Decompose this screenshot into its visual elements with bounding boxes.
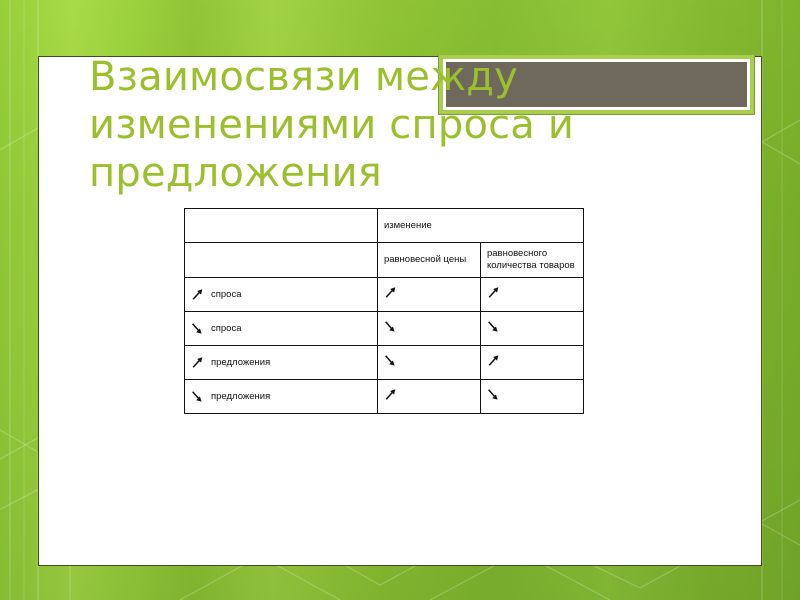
row-price-cell: [377, 346, 480, 380]
table-row: спроса: [185, 278, 584, 312]
table-row: предложения: [185, 346, 584, 380]
arrow-up-right-icon: [487, 286, 500, 299]
row-price-cell: [377, 278, 480, 312]
table-row: предложения: [185, 380, 584, 414]
arrow-down-right-icon: [191, 322, 204, 335]
subheader-corner-cell: [185, 243, 378, 278]
row-label-text: предложения: [211, 391, 270, 403]
table-row-header-top: изменение: [185, 209, 584, 243]
arrow-down-right-icon: [487, 388, 500, 401]
row-label-text: предложения: [211, 357, 270, 369]
row-label-text: спроса: [211, 323, 242, 335]
arrow-down-right-icon: [384, 354, 397, 367]
row-price-cell: [377, 312, 480, 346]
arrow-up-right-icon: [384, 388, 397, 401]
row-quantity-cell: [480, 346, 583, 380]
row-label-cell: спроса: [185, 278, 378, 312]
slide-content-page: picture-placeholder Взаимосвязи между из…: [38, 56, 762, 566]
page-title: Взаимосвязи между изменениями спроса и п…: [89, 53, 649, 197]
arrow-up-right-icon: [191, 288, 204, 301]
row-label-cell: спроса: [185, 312, 378, 346]
row-label-cell: предложения: [185, 346, 378, 380]
row-label-cell: предложения: [185, 380, 378, 414]
relationships-table-wrapper: изменение равновесной цены равновесного …: [184, 208, 584, 414]
arrow-down-right-icon: [487, 320, 500, 333]
subheader-quantity-cell: равновесного количества товаров: [480, 243, 583, 278]
header-change-cell: изменение: [377, 209, 583, 243]
arrow-up-right-icon: [191, 356, 204, 369]
slide: picture-placeholder Взаимосвязи между из…: [0, 0, 800, 600]
arrow-up-right-icon: [487, 354, 500, 367]
row-label-text: спроса: [211, 289, 242, 301]
relationships-table: изменение равновесной цены равновесного …: [184, 208, 584, 414]
row-quantity-cell: [480, 278, 583, 312]
arrow-down-right-icon: [384, 320, 397, 333]
arrow-down-right-icon: [191, 390, 204, 403]
table-row: спроса: [185, 312, 584, 346]
row-price-cell: [377, 380, 480, 414]
header-corner-cell: [185, 209, 378, 243]
subheader-price-cell: равновесной цены: [377, 243, 480, 278]
row-quantity-cell: [480, 312, 583, 346]
arrow-up-right-icon: [384, 286, 397, 299]
row-quantity-cell: [480, 380, 583, 414]
table-row-header-sub: равновесной цены равновесного количества…: [185, 243, 584, 278]
